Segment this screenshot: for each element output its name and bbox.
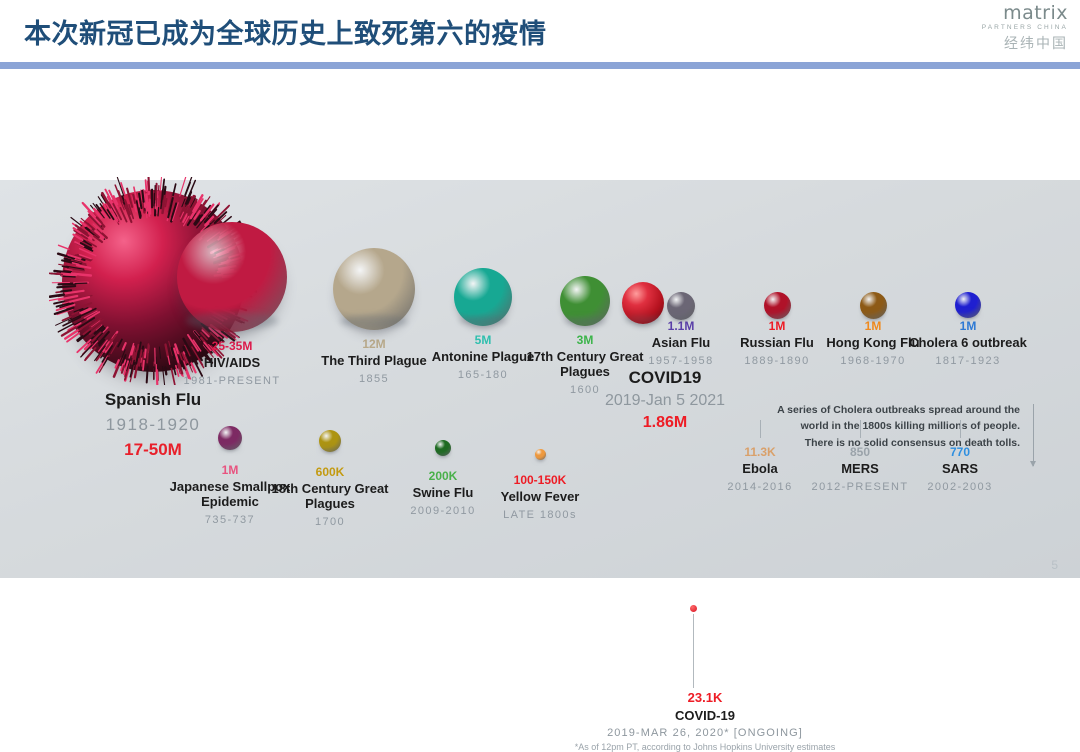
pandemic-item-yellow-fever: 100-150KYellow FeverLATE 1800s: [465, 434, 615, 522]
hong-kong-flu-sphere: [860, 292, 887, 319]
pandemic-item-hiv-aids: 25-35MHIV/AIDS1981-PRESENT: [157, 222, 307, 388]
antonine-plague-sphere: [454, 268, 512, 326]
leader-line: [693, 614, 694, 688]
pandemic-name: HIV/AIDS: [157, 356, 307, 371]
covid19-small-marker: [690, 605, 697, 688]
header-divider: [0, 62, 1080, 69]
page-number: 5: [1051, 558, 1058, 572]
pandemic-deaths: 1M: [893, 320, 1043, 333]
pandemic-deaths: 770: [885, 446, 1035, 459]
pandemic-deaths: 100-150K: [465, 474, 615, 487]
brand-name: matrix: [938, 4, 1068, 23]
slide-header: 本次新冠已成为全球历史上致死第六的疫情 matrix PARTNERS CHIN…: [0, 0, 1080, 70]
tick-marker: [960, 420, 961, 438]
swine-flu-sphere: [435, 440, 451, 456]
covid19-footnote-source: *As of 12pm PT, according to Johns Hopki…: [560, 742, 850, 752]
pandemic-name: SARS: [885, 462, 1035, 477]
annotation-bold-word: Cholera: [833, 404, 872, 416]
pandemic-infographic: Spanish Flu 1918-1920 17-50M COVID19 201…: [0, 180, 1080, 578]
pandemic-years: 1817-1923: [893, 355, 1043, 368]
covid19-footnote-name: COVID-19: [560, 708, 850, 723]
covid19-virus-sphere: [622, 282, 664, 324]
pandemic-deaths: 25-35M: [157, 340, 307, 353]
pandemic-item-sars: 770SARS2002-2003: [885, 420, 1035, 494]
18th-century-great-plagues-sphere: [319, 430, 341, 452]
pandemic-item-covid19-sphere: [568, 282, 718, 324]
pandemic-years: LATE 1800s: [465, 509, 615, 522]
japanese-smallpox-epidemic-sphere: [218, 426, 242, 450]
pandemic-name: Yellow Fever: [465, 490, 615, 505]
pandemic-years: 1981-PRESENT: [157, 375, 307, 388]
pandemic-years: 1600: [510, 384, 660, 397]
covid19-footnote-deaths: 23.1K: [560, 690, 850, 705]
the-third-plague-sphere: [333, 248, 415, 330]
annotation-text-before: A series of: [777, 404, 833, 416]
pandemic-years: 2002-2003: [885, 481, 1035, 494]
brand-logo: matrix PARTNERS CHINA 经纬中国: [938, 4, 1068, 50]
tick-marker: [760, 420, 761, 438]
pandemic-name: Spanish Flu: [8, 390, 298, 410]
brand-subtitle: PARTNERS CHINA: [938, 25, 1068, 32]
tick-marker: [860, 420, 861, 438]
yellow-fever-sphere: [535, 449, 546, 460]
cholera-6-outbreak-sphere: [955, 292, 981, 318]
covid19-footnote-years: 2019-MAR 26, 2020* [ONGOING]: [560, 727, 850, 739]
covid19-dot-icon: [690, 605, 697, 612]
pandemic-item-cholera-6-outbreak: 1MCholera 6 outbreak1817-1923: [893, 292, 1043, 368]
russian-flu-sphere: [764, 292, 791, 319]
covid19-footnote-block: 23.1K COVID-19 2019-MAR 26, 2020* [ONGOI…: [560, 690, 850, 752]
pandemic-name: Cholera 6 outbreak: [893, 336, 1043, 351]
hiv-aids-sphere: [177, 222, 287, 332]
page-title: 本次新冠已成为全球历史上致死第六的疫情: [24, 12, 547, 51]
brand-name-chinese: 经纬中国: [938, 36, 1068, 50]
